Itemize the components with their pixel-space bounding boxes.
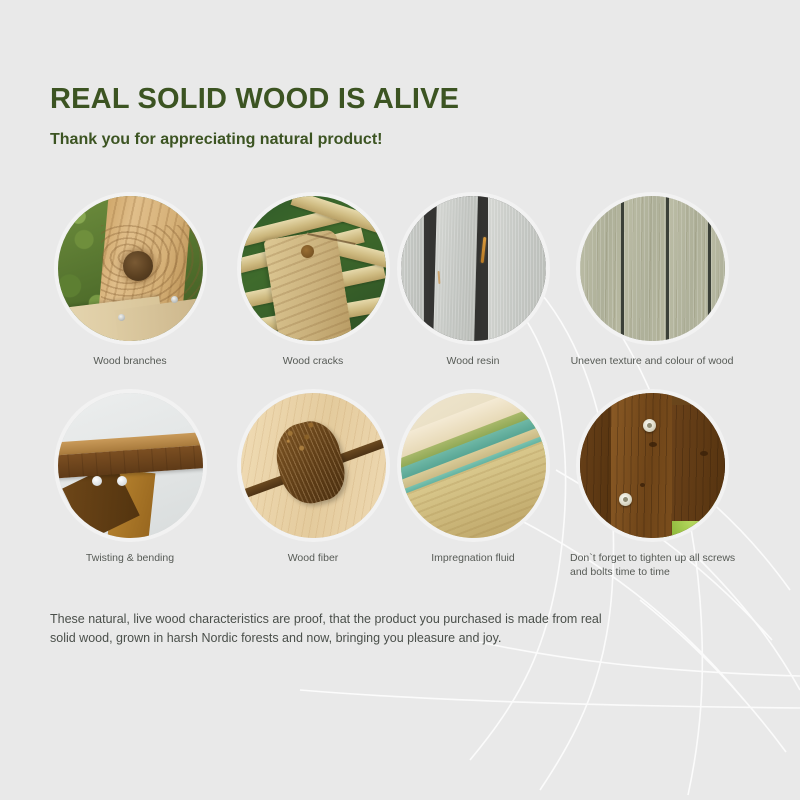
gallery-item-impregnation-fluid: Impregnation fluid (389, 393, 557, 565)
screws-in-post-photo (580, 393, 725, 538)
table-edge-photo (58, 393, 203, 538)
gallery-caption: Twisting & bending (46, 551, 214, 565)
header: REAL SOLID WOOD IS ALIVE Thank you for a… (50, 84, 459, 149)
wood-post-with-knot-photo (58, 196, 203, 341)
grey-board-resin-streak-photo (401, 196, 546, 341)
gallery-caption: Don`t forget to tighten up all screws an… (568, 551, 736, 579)
gallery-item-tighten-screws: Don`t forget to tighten up all screws an… (568, 393, 736, 579)
wooden-slats-photo (241, 196, 386, 341)
gallery-caption: Wood fiber (229, 551, 397, 565)
gallery-caption: Uneven texture and colour of wood (568, 354, 736, 368)
gallery-item-twisting-bending: Twisting & bending (46, 393, 214, 565)
vertical-grey-planks-photo (580, 196, 725, 341)
gallery-item-wood-resin: Wood resin (389, 196, 557, 368)
gallery-item-wood-branches: Wood branches (46, 196, 214, 368)
gallery-caption: Wood branches (46, 354, 214, 368)
gallery-caption: Wood resin (389, 354, 557, 368)
gallery-caption: Wood cracks (229, 354, 397, 368)
footer-note: These natural, live wood characteristics… (50, 610, 610, 649)
impregnated-board-photo (401, 393, 546, 538)
wood-characteristics-infographic: REAL SOLID WOOD IS ALIVE Thank you for a… (0, 0, 800, 800)
page-title: REAL SOLID WOOD IS ALIVE (50, 84, 459, 116)
gallery-caption: Impregnation fluid (389, 551, 557, 565)
gallery-item-uneven-texture: Uneven texture and colour of wood (568, 196, 736, 368)
gallery-item-wood-fiber: Wood fiber (229, 393, 397, 565)
page-subtitle: Thank you for appreciating natural produ… (50, 116, 459, 149)
gallery-item-wood-cracks: Wood cracks (229, 196, 397, 368)
wood-splinter-photo (241, 393, 386, 538)
